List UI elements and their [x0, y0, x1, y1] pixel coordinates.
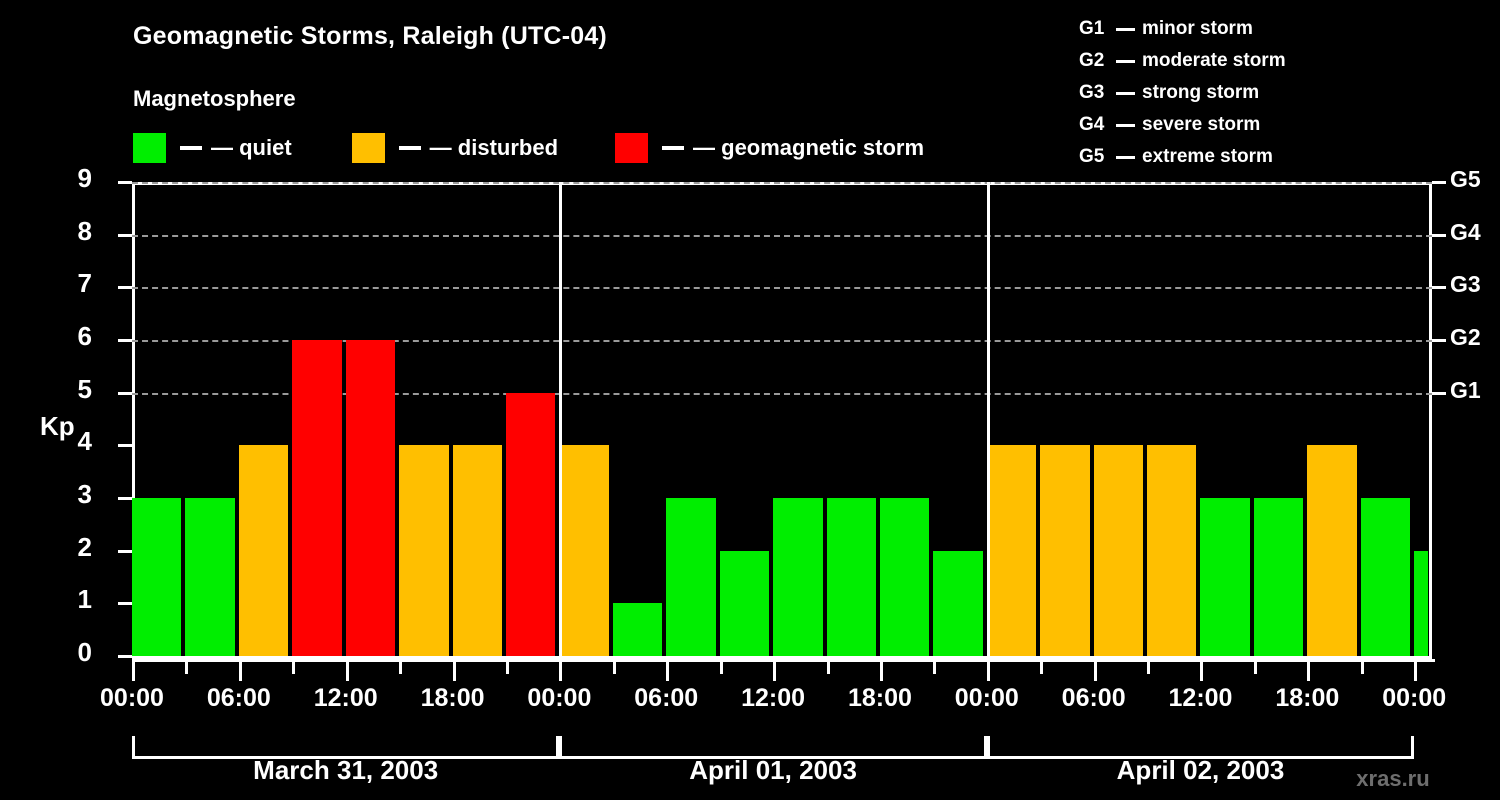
y-tick-label-5: 5 — [52, 376, 92, 402]
x-tick-mark — [666, 659, 669, 681]
x-tick-mark — [1094, 659, 1097, 681]
x-tick-mark — [132, 659, 135, 681]
legend-dash-icon — [180, 146, 202, 150]
x-tick-mark — [1414, 659, 1417, 681]
x-tick-mark — [827, 659, 830, 674]
day-label: March 31, 2003 — [253, 755, 438, 786]
legend-item-disturbed: — disturbed — [352, 133, 558, 163]
bar — [773, 498, 822, 656]
x-tick-mark — [880, 659, 883, 681]
x-tick-label: 00:00 — [100, 684, 164, 713]
y-tick-label-2: 2 — [52, 534, 92, 560]
x-tick-label: 18:00 — [1275, 684, 1339, 713]
gridline-kp-9 — [132, 182, 1432, 184]
g-scale-desc: moderate storm — [1142, 45, 1286, 77]
x-tick-mark — [559, 659, 562, 681]
bar — [1254, 498, 1303, 656]
x-tick-mark — [346, 659, 349, 681]
bar — [613, 603, 662, 656]
bar — [1094, 445, 1143, 656]
chart-subtitle: Magnetosphere — [133, 86, 296, 112]
bar — [185, 498, 234, 656]
y-axis-title: Kp — [40, 411, 75, 442]
x-tick-mark — [399, 659, 402, 674]
color-legend: — quiet — disturbed — geomagnetic storm — [133, 133, 924, 163]
right-tick-mark — [1432, 234, 1446, 237]
x-tick-mark — [1361, 659, 1364, 674]
plot-area — [132, 182, 1432, 659]
x-tick-mark — [1254, 659, 1257, 674]
x-tick-mark — [987, 659, 990, 681]
y-tick-label-1: 1 — [52, 586, 92, 612]
bar — [132, 498, 181, 656]
bar — [666, 498, 715, 656]
day-divider — [559, 182, 562, 659]
legend-item-storm: — geomagnetic storm — [615, 133, 924, 163]
g-scale-desc: strong storm — [1142, 77, 1259, 109]
bar — [346, 340, 395, 656]
bar — [933, 551, 982, 656]
y-tick-mark — [118, 602, 132, 605]
g-scale-dash-icon — [1116, 60, 1135, 63]
day-label: April 02, 2003 — [1117, 755, 1285, 786]
legend-swatch-disturbed — [352, 133, 385, 163]
y-tick-mark — [118, 444, 132, 447]
g-scale-desc: extreme storm — [1142, 141, 1273, 173]
right-tick-mark — [1432, 339, 1446, 342]
bar — [1414, 551, 1428, 656]
g-scale-code: G2 — [1079, 45, 1109, 77]
y-tick-mark — [118, 234, 132, 237]
g-scale-row-g4: G4severe storm — [1079, 109, 1286, 141]
right-tick-label-g5: G5 — [1450, 168, 1481, 191]
right-tick-mark — [1432, 392, 1446, 395]
g-scale-code: G5 — [1079, 141, 1109, 173]
right-tick-mark — [1432, 181, 1446, 184]
x-tick-label: 06:00 — [207, 684, 271, 713]
right-tick-mark — [1432, 286, 1446, 289]
legend-swatch-storm — [615, 133, 648, 163]
y-tick-mark — [118, 550, 132, 553]
watermark: xras.ru — [1356, 766, 1429, 792]
bar — [827, 498, 876, 656]
bar — [880, 498, 929, 656]
bar — [1307, 445, 1356, 656]
chart-page: Geomagnetic Storms, Raleigh (UTC-04) Mag… — [0, 0, 1500, 800]
day-label: April 01, 2003 — [689, 755, 857, 786]
y-tick-mark — [118, 339, 132, 342]
g-scale-code: G4 — [1079, 109, 1109, 141]
bar — [292, 340, 341, 656]
y-tick-mark — [118, 392, 132, 395]
right-tick-label-g3: G3 — [1450, 273, 1481, 296]
g-scale-desc: severe storm — [1142, 109, 1260, 141]
y-tick-mark — [118, 286, 132, 289]
x-tick-label: 00:00 — [955, 684, 1019, 713]
x-axis-line — [132, 659, 1435, 662]
right-tick-label-g1: G1 — [1450, 379, 1481, 402]
g-scale-row-g5: G5extreme storm — [1079, 141, 1286, 173]
g-scale-desc: minor storm — [1142, 13, 1253, 45]
x-tick-label: 06:00 — [634, 684, 698, 713]
legend-dash-icon — [662, 146, 684, 150]
gridline-kp-7 — [132, 287, 1432, 289]
bar — [506, 393, 555, 656]
g-scale-dash-icon — [1116, 28, 1135, 31]
x-tick-label: 00:00 — [527, 684, 591, 713]
x-tick-label: 18:00 — [848, 684, 912, 713]
x-tick-mark — [720, 659, 723, 674]
y-tick-label-9: 9 — [52, 165, 92, 191]
bar — [987, 445, 1036, 656]
g-scale-row-g2: G2moderate storm — [1079, 45, 1286, 77]
gridline-kp-8 — [132, 235, 1432, 237]
legend-label-disturbed: — disturbed — [430, 135, 558, 161]
x-tick-mark — [773, 659, 776, 681]
x-tick-mark — [933, 659, 936, 674]
g-scale-row-g3: G3strong storm — [1079, 77, 1286, 109]
bar — [399, 445, 448, 656]
x-tick-mark — [506, 659, 509, 674]
g-scale-legend: G1minor stormG2moderate stormG3strong st… — [1079, 13, 1286, 173]
bar — [453, 445, 502, 656]
x-tick-mark — [239, 659, 242, 681]
bar — [720, 551, 769, 656]
y-tick-mark — [118, 655, 132, 658]
y-tick-label-6: 6 — [52, 323, 92, 349]
day-divider — [987, 182, 990, 659]
bar — [1361, 498, 1410, 656]
x-tick-mark — [185, 659, 188, 674]
legend-swatch-quiet — [133, 133, 166, 163]
x-tick-label: 12:00 — [314, 684, 378, 713]
x-tick-mark — [1040, 659, 1043, 674]
g-scale-code: G3 — [1079, 77, 1109, 109]
bar — [239, 445, 288, 656]
x-tick-mark — [1147, 659, 1150, 674]
x-tick-mark — [1200, 659, 1203, 681]
page-title: Geomagnetic Storms, Raleigh (UTC-04) — [133, 22, 607, 51]
right-tick-label-g2: G2 — [1450, 326, 1481, 349]
g-scale-dash-icon — [1116, 156, 1135, 159]
y-tick-mark — [118, 181, 132, 184]
x-tick-label: 18:00 — [421, 684, 485, 713]
right-tick-label-g4: G4 — [1450, 221, 1481, 244]
bar — [1200, 498, 1249, 656]
y-tick-label-0: 0 — [52, 639, 92, 665]
g-scale-row-g1: G1minor storm — [1079, 13, 1286, 45]
g-scale-code: G1 — [1079, 13, 1109, 45]
x-tick-label: 12:00 — [1169, 684, 1233, 713]
x-tick-label: 06:00 — [1062, 684, 1126, 713]
x-tick-label: 00:00 — [1382, 684, 1446, 713]
x-tick-mark — [613, 659, 616, 674]
bar — [1147, 445, 1196, 656]
y-tick-label-8: 8 — [52, 218, 92, 244]
bar — [1040, 445, 1089, 656]
legend-dash-icon — [399, 146, 421, 150]
y-tick-label-7: 7 — [52, 270, 92, 296]
x-tick-mark — [292, 659, 295, 674]
g-scale-dash-icon — [1116, 124, 1135, 127]
x-tick-label: 12:00 — [741, 684, 805, 713]
x-tick-mark — [453, 659, 456, 681]
y-tick-mark — [118, 497, 132, 500]
legend-label-quiet: — quiet — [211, 135, 292, 161]
x-tick-mark — [1307, 659, 1310, 681]
legend-label-storm: — geomagnetic storm — [693, 135, 924, 161]
legend-item-quiet: — quiet — [133, 133, 292, 163]
g-scale-dash-icon — [1116, 92, 1135, 95]
y-tick-label-3: 3 — [52, 481, 92, 507]
bar — [559, 445, 608, 656]
